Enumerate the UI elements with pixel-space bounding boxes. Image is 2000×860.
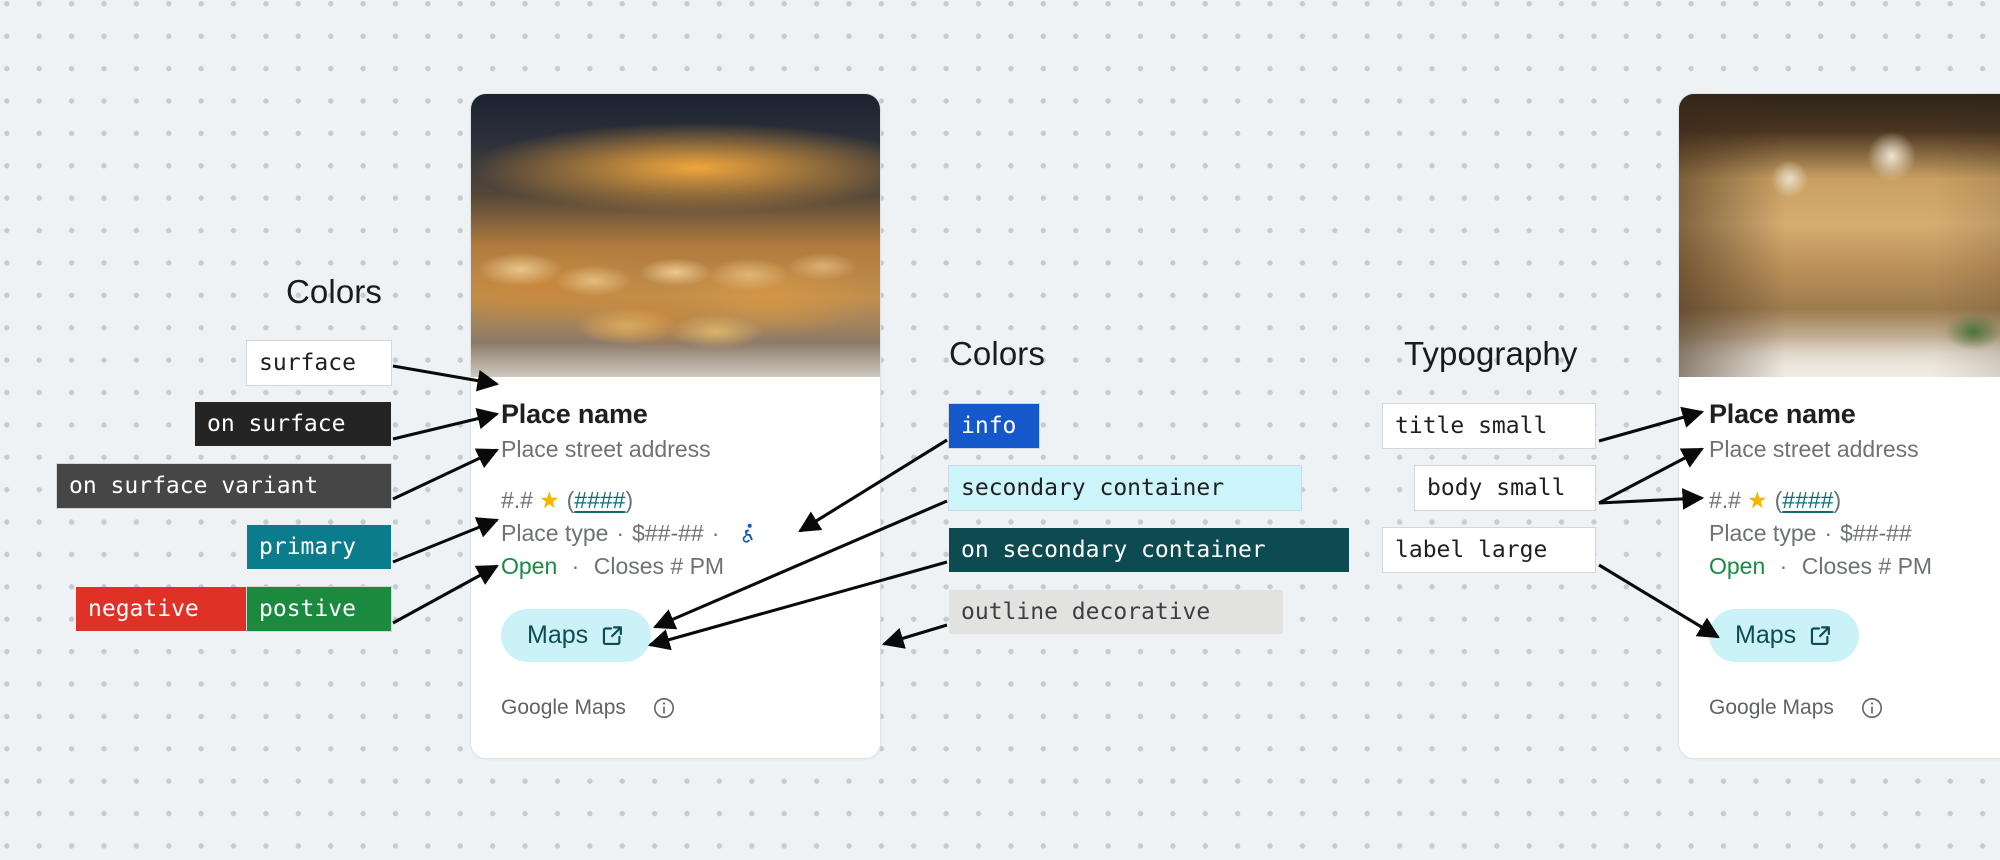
section-title-typography: Typography — [1404, 335, 1577, 373]
color-chip-outline-decorative-label: outline decorative — [961, 601, 1210, 624]
review-count-open: ( — [567, 485, 575, 516]
place-photo-cafe — [1679, 94, 2000, 377]
color-chip-negative[interactable]: negative — [76, 587, 246, 631]
external-link-icon — [1808, 623, 1833, 648]
info-circle-icon[interactable] — [652, 696, 676, 720]
section-title-colors-left: Colors — [286, 273, 382, 311]
color-chip-outline-decorative[interactable]: outline decorative — [949, 590, 1283, 634]
star-icon: ★ — [539, 489, 560, 512]
place-meta-row: Place type · $##-## — [1709, 518, 2000, 549]
color-chip-primary-label: primary — [259, 536, 356, 559]
meta-separator-2: · — [712, 518, 720, 549]
type-chip-body-small[interactable]: body small — [1415, 466, 1595, 510]
color-chip-primary[interactable]: primary — [247, 525, 391, 569]
place-name: Place name — [1709, 399, 2000, 430]
color-chip-surface[interactable]: surface — [247, 341, 391, 385]
arrow-outline-decorative-to-card-border — [884, 625, 947, 644]
color-chip-postive-label: postive — [259, 598, 356, 621]
color-chip-on-secondary-container[interactable]: on secondary container — [949, 528, 1349, 572]
info-circle-icon[interactable] — [1860, 696, 1884, 720]
design-annotation-canvas: Colors Colors Typography surface on surf… — [0, 0, 2000, 860]
place-card-left[interactable]: Place name Place street address #.# ★ ( … — [470, 93, 881, 759]
color-chip-on-surface-variant-label: on surface variant — [69, 475, 318, 498]
type-chip-body-small-label: body small — [1427, 477, 1565, 500]
hours-separator: · — [1780, 553, 1788, 579]
star-icon: ★ — [1747, 489, 1768, 512]
google-maps-attribution: Google Maps — [501, 696, 626, 720]
type-chip-label-large[interactable]: label large — [1383, 528, 1595, 572]
color-chip-secondary-container-label: secondary container — [961, 477, 1224, 500]
review-count-close: ) — [1833, 485, 1841, 516]
place-hours-row: Open · Closes # PM — [1709, 551, 2000, 582]
maps-button[interactable]: Maps — [1709, 609, 1859, 662]
rating-row: #.# ★ ( #### ) — [1709, 485, 2000, 516]
closing-time-label: Closes # PM — [1802, 553, 1932, 579]
color-chip-negative-label: negative — [88, 598, 199, 621]
meta-separator-1: · — [616, 518, 624, 549]
rating-value: #.# — [1709, 485, 1741, 516]
type-chip-title-small[interactable]: title small — [1383, 404, 1595, 448]
type-chip-label-large-label: label large — [1395, 539, 1547, 562]
maps-button-label: Maps — [527, 621, 588, 650]
review-count-open: ( — [1775, 485, 1783, 516]
meta-separator-1: · — [1824, 518, 1832, 549]
color-chip-on-surface-variant[interactable]: on surface variant — [57, 464, 391, 508]
section-title-colors-mid: Colors — [949, 335, 1045, 373]
color-chip-info[interactable]: info — [949, 404, 1039, 448]
place-hours-row: Open · Closes # PM — [501, 551, 850, 582]
rating-value: #.# — [501, 485, 533, 516]
rating-row: #.# ★ ( #### ) — [501, 485, 850, 516]
review-count-link[interactable]: #### — [1782, 485, 1833, 516]
place-card-right-body: Place name Place street address #.# ★ ( … — [1679, 377, 2000, 744]
color-chip-on-surface-label: on surface — [207, 413, 345, 436]
place-type: Place type — [501, 518, 608, 549]
maps-button[interactable]: Maps — [501, 609, 651, 662]
maps-button-label: Maps — [1735, 621, 1796, 650]
color-chip-surface-label: surface — [259, 352, 356, 375]
place-card-left-body: Place name Place street address #.# ★ ( … — [471, 377, 880, 744]
place-card-right[interactable]: Place name Place street address #.# ★ ( … — [1678, 93, 2000, 759]
place-address: Place street address — [1709, 434, 2000, 465]
type-chip-title-small-label: title small — [1395, 415, 1547, 438]
color-chip-secondary-container[interactable]: secondary container — [949, 466, 1301, 510]
hours-separator: · — [572, 553, 580, 579]
place-photo-bakery — [471, 94, 880, 377]
place-address: Place street address — [501, 434, 850, 465]
color-chip-info-label: info — [961, 415, 1016, 438]
color-chip-on-secondary-container-label: on secondary container — [961, 539, 1266, 562]
wheelchair-accessible-icon — [737, 522, 758, 545]
open-status-label: Open — [1709, 553, 1765, 579]
google-maps-attribution: Google Maps — [1709, 696, 1834, 720]
card-footer-right: Google Maps — [1709, 696, 2000, 744]
price-range: $##-## — [1840, 518, 1912, 549]
closing-time-label: Closes # PM — [594, 553, 724, 579]
review-count-close: ) — [625, 485, 633, 516]
color-chip-postive[interactable]: postive — [247, 587, 391, 631]
place-type: Place type — [1709, 518, 1816, 549]
open-status-label: Open — [501, 553, 557, 579]
price-range: $##-## — [632, 518, 704, 549]
place-meta-row: Place type · $##-## · — [501, 518, 850, 549]
color-chip-on-surface[interactable]: on surface — [195, 402, 391, 446]
place-name: Place name — [501, 399, 850, 430]
review-count-link[interactable]: #### — [574, 485, 625, 516]
external-link-icon — [600, 623, 625, 648]
card-footer-left: Google Maps — [501, 696, 850, 744]
